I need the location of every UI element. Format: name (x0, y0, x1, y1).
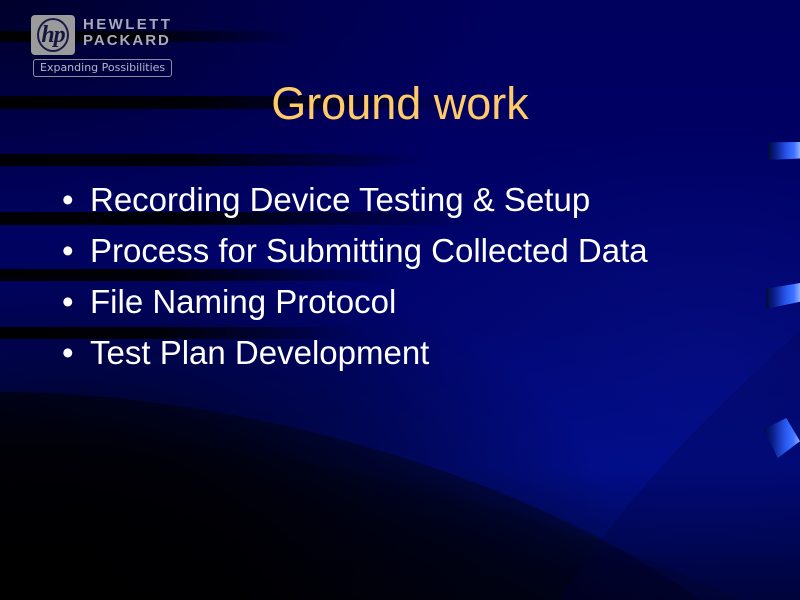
presentation-slide: hp HEWLETT PACKARD Expanding Possibiliti… (0, 0, 800, 600)
bullet-marker-icon: • (62, 180, 90, 220)
bullet-marker-icon: • (62, 333, 90, 373)
accent-stripe (766, 283, 800, 309)
bullet-marker-icon: • (62, 231, 90, 271)
accent-stripe (768, 142, 800, 160)
slide-title: Ground work (0, 78, 800, 130)
list-item-label: Recording Device Testing & Setup (90, 180, 762, 220)
hp-logo-tagline: Expanding Possibilities (33, 59, 172, 77)
list-item-label: Test Plan Development (90, 333, 762, 373)
accent-stripe (764, 418, 800, 458)
bullet-marker-icon: • (62, 282, 90, 322)
hp-logo-wordmark-line1: HEWLETT (83, 17, 172, 33)
hp-logo-mark-icon: hp (31, 15, 75, 55)
list-item: • Process for Submitting Collected Data (62, 231, 762, 282)
list-item: • File Naming Protocol (62, 282, 762, 333)
hp-logo: hp HEWLETT PACKARD Expanding Possibiliti… (31, 15, 171, 77)
hp-logo-monogram: hp (31, 15, 75, 55)
list-item: • Test Plan Development (62, 333, 762, 384)
list-item-label: Process for Submitting Collected Data (90, 231, 762, 271)
background-band (0, 154, 430, 166)
list-item: • Recording Device Testing & Setup (62, 180, 762, 231)
hp-logo-wordmark: HEWLETT PACKARD (83, 17, 172, 49)
hp-logo-wordmark-line2: PACKARD (83, 33, 172, 49)
slide-bullet-list: • Recording Device Testing & Setup • Pro… (62, 180, 762, 384)
list-item-label: File Naming Protocol (90, 282, 762, 322)
